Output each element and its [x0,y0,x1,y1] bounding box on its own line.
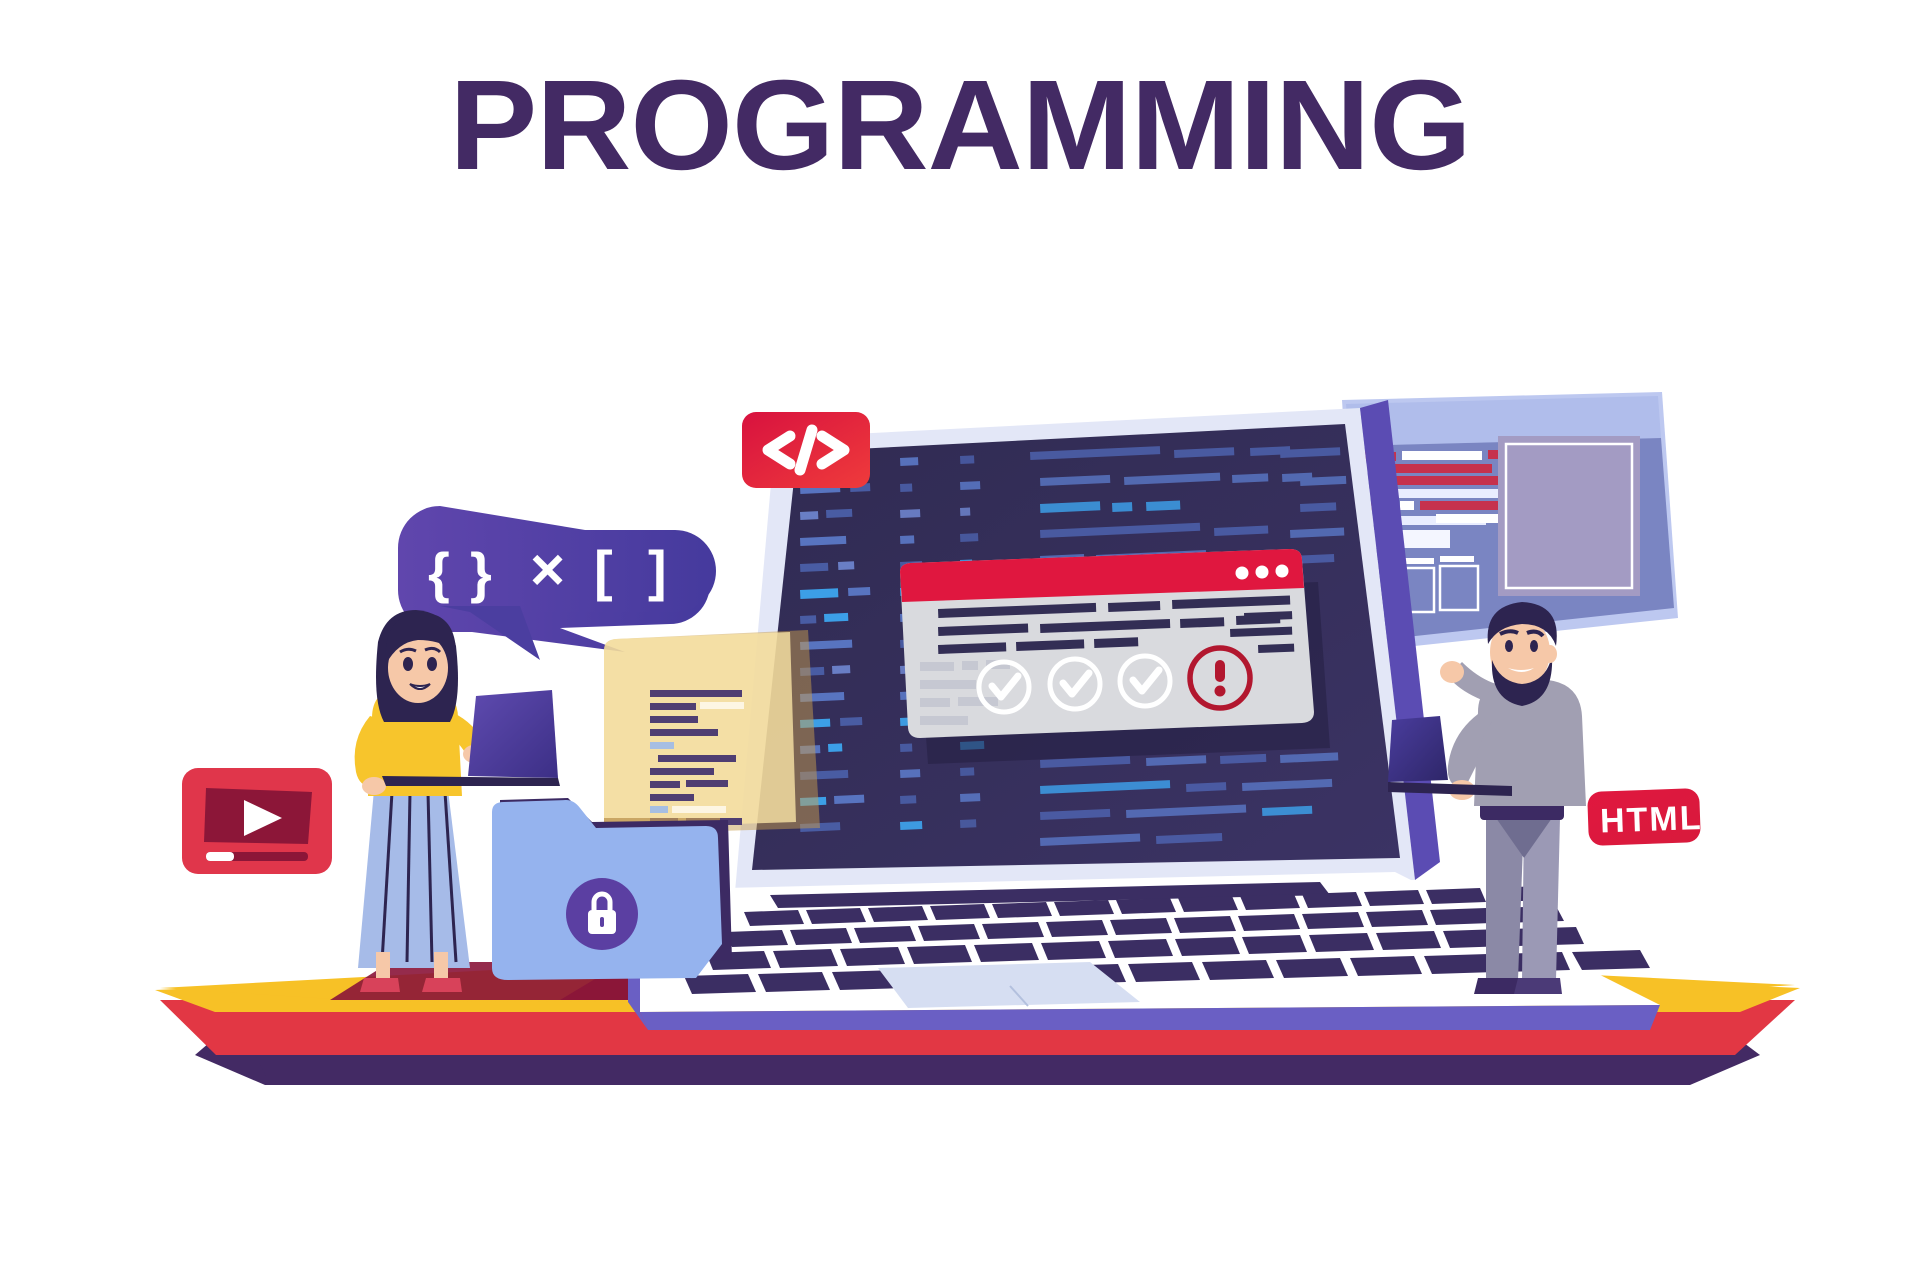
man-hand [1440,661,1464,683]
man-laptop-screen [1388,716,1448,782]
token-brace-close: } [470,541,492,604]
woman-laptop-base [382,776,560,786]
woman-eye [403,657,413,671]
woman-eye [427,657,437,671]
token-times: × [530,536,565,603]
secure-folder[interactable] [492,798,732,980]
panel-caption [1440,556,1474,562]
dialog-window-dots[interactable] [1236,565,1289,580]
token-bracket-close: ] [648,539,667,602]
error-dialog[interactable] [900,549,1330,764]
man-eye [1505,640,1513,652]
doc-card[interactable] [604,630,820,838]
woman-shoe [360,978,400,992]
woman-shoe [422,978,462,992]
folder-lock-badge[interactable] [566,878,638,950]
code-badge[interactable] [742,412,870,488]
panel-image-placeholder [1498,436,1640,596]
woman-laptop-screen [468,690,558,778]
html-badge-label: HTML [1599,799,1703,841]
illustration-canvas: PROGRAMMING [0,0,1920,1277]
html-badge[interactable]: HTML [1587,788,1703,846]
video-badge[interactable] [182,768,332,874]
programming-illustration: { } × [ ] HTML [0,0,1920,1277]
man-eye [1530,640,1538,652]
woman-hand [362,777,386,795]
video-progress-fill [206,852,234,861]
man-shoe [1514,978,1562,994]
token-brace-open: { [428,541,450,604]
man-ear [1543,645,1557,663]
token-bracket-open: [ [594,539,613,602]
